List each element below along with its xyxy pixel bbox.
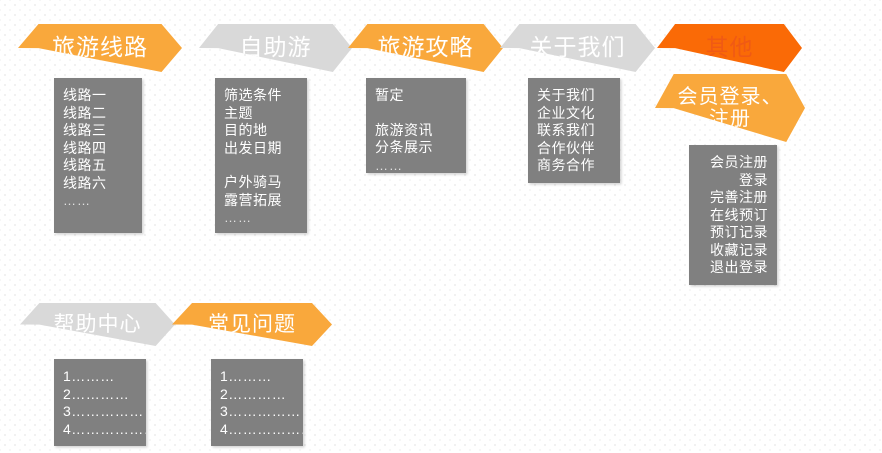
node-about-us[interactable]: 关于我们 (500, 24, 655, 72)
panel-help-center: 1………2…………3……………4……………… (54, 359, 146, 446)
node-tour-routes[interactable]: 旅游线路 (18, 24, 182, 72)
hexagon-header-other[interactable]: 其他 (657, 24, 802, 72)
hexagon-label-faq: 常见问题 (204, 313, 300, 337)
panel-about-us: 关于我们企业文化联系我们合作伙伴商务合作 (528, 78, 620, 183)
hexagon-header-member-login-register[interactable]: 会员登录、 注册 (655, 74, 805, 142)
hexagon-header-faq[interactable]: 常见问题 (172, 303, 332, 346)
list-group-spacer (224, 157, 298, 174)
hexagon-label-self-guided-tour: 自助游 (236, 35, 316, 61)
list-item[interactable]: 3…………… (220, 403, 294, 421)
list-item[interactable]: 关于我们 (537, 87, 611, 105)
hexagon-label-about-us: 关于我们 (526, 35, 630, 61)
list-item[interactable]: 线路五 (63, 157, 133, 175)
list-item[interactable]: 预订记录 (698, 224, 768, 242)
list-item[interactable]: 商务合作 (537, 157, 611, 175)
list-item[interactable]: 出发日期 (224, 140, 298, 158)
list-item[interactable]: 登录 (698, 172, 768, 190)
hexagon-label-tour-routes: 旅游线路 (48, 35, 152, 61)
hexagon-label-other: 其他 (702, 35, 758, 61)
node-faq[interactable]: 常见问题 (172, 303, 332, 346)
list-item[interactable]: 旅游资讯 (375, 122, 457, 140)
list-item[interactable]: 合作伙伴 (537, 140, 611, 158)
list-item[interactable]: 户外骑马 (224, 174, 298, 192)
list-item[interactable]: 主题 (224, 105, 298, 123)
node-self-guided-tour[interactable]: 自助游 (199, 24, 352, 72)
hexagon-header-help-center[interactable]: 帮助中心 (20, 303, 175, 346)
list-ellipsis: …… (63, 192, 133, 210)
list-item[interactable]: 2………… (220, 386, 294, 404)
hexagon-header-travel-guide[interactable]: 旅游攻略 (348, 24, 503, 72)
list-item[interactable]: 露营拓展 (224, 192, 298, 210)
list-item[interactable]: 线路六 (63, 175, 133, 193)
hexagon-label-help-center: 帮助中心 (50, 313, 146, 337)
list-item[interactable]: 会员注册 (698, 154, 768, 172)
hexagon-label-travel-guide: 旅游攻略 (374, 35, 478, 61)
panel-tour-routes: 线路一线路二线路三线路四线路五线路六…… (54, 78, 142, 233)
node-help-center[interactable]: 帮助中心 (20, 303, 175, 346)
list-item[interactable]: 线路四 (63, 140, 133, 158)
hexagon-label-member-login-register: 会员登录、 注册 (674, 86, 787, 131)
list-item[interactable]: 2………… (63, 386, 137, 404)
list-item[interactable]: 目的地 (224, 122, 298, 140)
hexagon-header-tour-routes[interactable]: 旅游线路 (18, 24, 182, 72)
list-item[interactable]: 暂定 (375, 87, 457, 105)
list-item[interactable]: 1……… (220, 368, 294, 386)
list-item[interactable]: 3…………… (63, 403, 137, 421)
list-item[interactable]: 线路一 (63, 87, 133, 105)
list-item[interactable]: 线路二 (63, 105, 133, 123)
node-member-login-register[interactable]: 会员登录、 注册 (655, 74, 805, 142)
node-travel-guide[interactable]: 旅游攻略 (348, 24, 503, 72)
list-item[interactable]: 1……… (63, 368, 137, 386)
list-item[interactable]: 在线预订 (698, 207, 768, 225)
list-item[interactable]: 4……………… (220, 421, 294, 439)
list-item[interactable]: 4……………… (63, 421, 137, 439)
list-group-spacer (375, 105, 457, 122)
hexagon-header-self-guided-tour[interactable]: 自助游 (199, 24, 352, 72)
sitemap-diagram: 旅游线路线路一线路二线路三线路四线路五线路六……自助游筛选条件主题目的地出发日期… (0, 0, 882, 453)
list-item[interactable]: 线路三 (63, 122, 133, 140)
list-item[interactable]: 分条展示 (375, 139, 457, 157)
list-item[interactable]: 联系我们 (537, 122, 611, 140)
panel-faq: 1………2…………3……………4……………… (211, 359, 303, 446)
list-ellipsis: …… (224, 209, 298, 227)
list-item[interactable]: 收藏记录 (698, 242, 768, 260)
panel-member-login-register: 会员注册登录完善注册在线预订预订记录收藏记录退出登录 (689, 145, 777, 285)
list-item[interactable]: 企业文化 (537, 105, 611, 123)
list-item[interactable]: 完善注册 (698, 189, 768, 207)
panel-travel-guide: 暂定旅游资讯分条展示…… (366, 78, 466, 173)
list-item[interactable]: 筛选条件 (224, 87, 298, 105)
list-ellipsis: …… (375, 157, 457, 174)
hexagon-header-about-us[interactable]: 关于我们 (500, 24, 655, 72)
list-item[interactable]: 退出登录 (698, 259, 768, 277)
node-other[interactable]: 其他 (657, 24, 802, 72)
panel-self-guided-tour: 筛选条件主题目的地出发日期户外骑马露营拓展…… (215, 78, 307, 233)
